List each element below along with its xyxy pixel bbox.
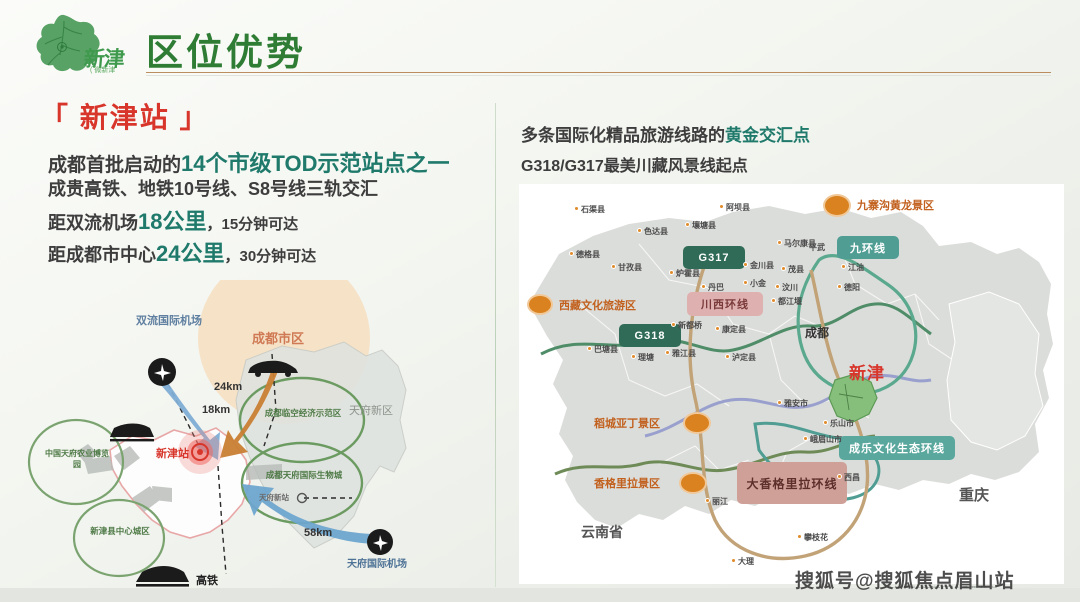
right-headline-emphasis: 黄金交汇点 (725, 126, 810, 145)
panel-divider (495, 103, 496, 587)
page-header: 新津 ( 微新津 区位优势 (0, 0, 1080, 86)
city-dot (669, 270, 674, 275)
city-dot (569, 251, 574, 256)
label-province-yunnan: 云南省 (581, 522, 623, 542)
bullet-1-prefix: 成都首批启动的 (48, 155, 181, 176)
label-hsr: 高铁 (196, 572, 218, 588)
bullet-4-prefix: 距成都市中心 (48, 245, 156, 265)
city-dot (797, 534, 802, 539)
city-dot (574, 206, 579, 211)
bullet-3-emphasis: 18公里 (138, 209, 206, 234)
city-dot (823, 420, 828, 425)
city-degexian: 德格县 (569, 249, 600, 260)
bullet-2-prefix: 成贵高铁、地铁10号线、S8号线三轨交汇 (48, 179, 378, 199)
scenic-label-shangrila: 香格里拉景区 (594, 475, 660, 491)
xinjin-diagram-svg (14, 280, 484, 592)
city-dot (637, 228, 642, 233)
city-dot (665, 350, 670, 355)
city-dot (731, 558, 736, 563)
city-dot (775, 284, 780, 289)
bullet-line-4: 距成都市中心24公里，30分钟可达 (48, 236, 316, 268)
watermark-text: 搜狐号@搜狐焦点眉山站 (795, 566, 1015, 593)
city-batang: 巴塘县 (587, 344, 618, 355)
label-tianfu-airport: 天府国际机场 (347, 555, 407, 570)
route-tag-chuanxi: 川西环线 (687, 292, 763, 316)
city-yajiang: 雅江县 (665, 348, 696, 359)
bullet-line-2: 成贵高铁、地铁10号线、S8号线三轨交汇 (48, 175, 378, 201)
city-dot (685, 222, 690, 227)
city-dot (777, 240, 782, 245)
bullet-1-emphasis: 14个市级TOD示范站点之一 (181, 151, 450, 176)
city-dot (715, 326, 720, 331)
city-dot (705, 498, 710, 503)
scenic-dot-jiuzhaigou (823, 194, 851, 217)
city-dot (781, 266, 786, 271)
bullet-line-3: 距双流机场18公里，15分钟可达 (48, 204, 298, 236)
city-dot (701, 284, 706, 289)
city-lijiang: 丽江 (705, 496, 728, 507)
label-distance-58km: 58km (304, 527, 332, 539)
city-panzhihua: 攀枝花 (797, 532, 828, 543)
city-dot (611, 264, 616, 269)
city-dot (803, 436, 808, 441)
city-dot (837, 284, 842, 289)
title-divider-rule (146, 72, 1051, 73)
left-panel: 「 新津站 」 成都首批启动的14个市级TOD示范站点之一 成贵高铁、地铁10号… (0, 90, 492, 602)
label-chengdu: 成都 (805, 324, 829, 341)
route-tag-g317: G317 (683, 246, 745, 269)
city-dot (841, 264, 846, 269)
city-dot (743, 262, 748, 267)
label-xinjin-downtown: 新津县中心城区 (86, 526, 154, 537)
route-tag-shangrila: 大香格里拉环线 (737, 462, 847, 504)
right-panel: 多条国际化精品旅游线路的黄金交汇点 G318/G317最美川藏风景线起点 (505, 96, 1080, 602)
bullet-3-suffix: ，15分钟可达 (206, 216, 298, 233)
city-dot (725, 354, 730, 359)
city-xinduqiao: 新都桥 (671, 320, 702, 331)
city-pingwu: 平武 (809, 242, 825, 253)
right-headline: 多条国际化精品旅游线路的黄金交汇点 (521, 121, 810, 146)
city-abaxian: 阿坝县 (719, 202, 750, 213)
city-litang: 理塘 (631, 352, 654, 363)
label-xinjin-highlight: 新津 (849, 359, 885, 384)
label-chengdu-urban: 成都市区 (252, 328, 304, 347)
label-distance-24km: 24km (214, 381, 242, 393)
city-yaanshi: 雅安市 (777, 398, 808, 409)
city-shiquxian: 石渠县 (574, 204, 605, 215)
scenic-dot-daocheng (683, 412, 711, 434)
city-deyang: 德阳 (837, 282, 860, 293)
city-luding: 泸定县 (725, 352, 756, 363)
route-tag-jiuhuan: 九环线 (837, 236, 899, 259)
city-rangtang: 壤塘县 (685, 220, 716, 231)
city-dot (671, 322, 676, 327)
city-danba: 丹巴 (701, 282, 724, 293)
right-subheadline: G318/G317最美川藏风景线起点 (521, 152, 748, 176)
bullet-3-prefix: 距双流机场 (48, 213, 138, 233)
logo-subtext: ( 微新津 (90, 65, 115, 75)
brand-logo: 新津 ( 微新津 (26, 13, 146, 75)
city-dot (771, 298, 776, 303)
city-leshanshi: 乐山市 (823, 418, 854, 429)
city-luohuoxian: 炉霍县 (669, 268, 700, 279)
bullet-line-1: 成都首批启动的14个市级TOD示范站点之一 (48, 146, 450, 178)
city-emeishan: 峨眉山市 (803, 434, 842, 445)
scenic-label-tibet: 西藏文化旅游区 (559, 297, 636, 313)
label-tianfu-new-area: 天府新区 (349, 402, 393, 418)
label-province-chongqing: 重庆 (959, 484, 989, 505)
right-headline-prefix: 多条国际化精品旅游线路的 (521, 126, 725, 145)
city-dot (587, 346, 592, 351)
city-dot (837, 474, 842, 479)
label-distance-18km: 18km (202, 404, 230, 416)
city-jiangyou: 江油 (841, 262, 864, 273)
city-dot (743, 280, 748, 285)
title-divider-rule-secondary (146, 75, 1051, 76)
label-agri-park: 中国天府农业博览园 (42, 448, 112, 470)
label-biocity: 成都天府国际生物城 (264, 470, 344, 481)
scenic-label-daocheng: 稻城亚丁景区 (594, 415, 660, 431)
bullet-4-emphasis: 24公里 (156, 241, 224, 266)
city-dujiangyan: 都江堰 (771, 296, 802, 307)
xinjin-location-diagram: 双流国际机场 天府国际机场 18km 24km 58km 成都市区 新津站 中国… (14, 280, 484, 592)
city-kangding: 康定县 (715, 324, 746, 335)
city-dot (777, 400, 782, 405)
city-dot (719, 204, 724, 209)
city-maoxian: 茂县 (781, 264, 804, 275)
label-airport-econ-zone: 成都临空经济示范区 (262, 408, 344, 419)
station-headline: 「 新津站 」 (40, 96, 210, 136)
city-dot (631, 354, 636, 359)
city-ganzixian: 甘孜县 (611, 262, 642, 273)
label-shuangliu-airport: 双流国际机场 (136, 312, 202, 328)
city-dali: 大理 (731, 556, 754, 567)
scenic-dot-tibet (527, 294, 553, 315)
city-xichang: 西昌 (837, 472, 860, 483)
city-wenchuan: 汶川 (775, 282, 798, 293)
page-title: 区位优势 (146, 22, 306, 76)
downtown-circle (74, 500, 164, 576)
city-sedaxian: 色达县 (637, 226, 668, 237)
label-xinjin-station: 新津站 (156, 445, 189, 461)
city-jinchuan: 金川县 (743, 260, 774, 271)
bullet-4-suffix: ，30分钟可达 (224, 248, 316, 265)
scenic-dot-shangrila (679, 472, 707, 494)
city-xiaojin: 小金 (743, 278, 766, 289)
scenic-label-jiuzhaigou: 九寨沟黄龙景区 (857, 197, 934, 213)
sichuan-tourism-map: 西藏文化旅游区 九寨沟黄龙景区 稻城亚丁景区 香格里拉景区 G317 G318 … (519, 184, 1064, 584)
route-tag-chengle: 成乐文化生态环线 (839, 436, 955, 460)
label-tianfu-station: 天府新站 (259, 492, 289, 503)
